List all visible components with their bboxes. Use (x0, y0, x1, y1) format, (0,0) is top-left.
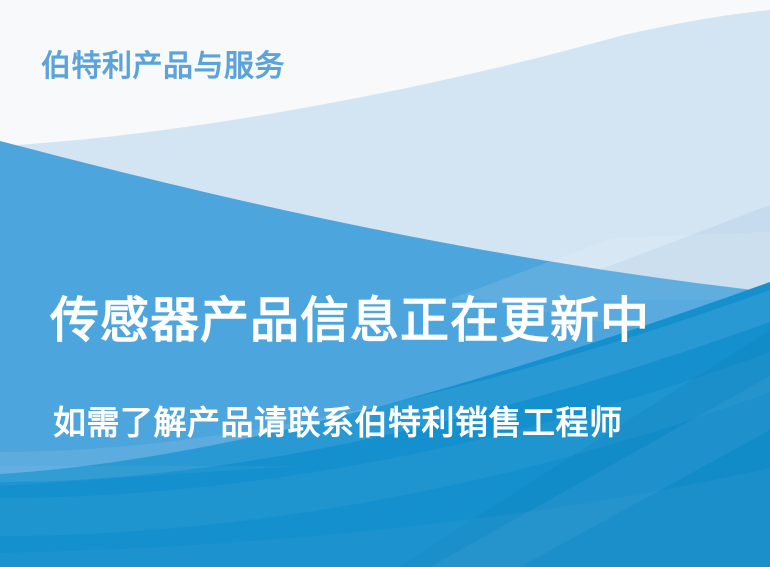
headline: 传感器产品信息正在更新中 (50, 296, 650, 347)
brand-title: 伯特利产品与服务 (41, 50, 285, 83)
subheadline: 如需了解产品请联系伯特利销售工程师 (53, 406, 623, 441)
banner-text-layer: 伯特利产品与服务 传感器产品信息正在更新中 如需了解产品请联系伯特利销售工程师 (0, 0, 770, 567)
product-service-banner: 伯特利产品与服务 传感器产品信息正在更新中 如需了解产品请联系伯特利销售工程师 (0, 0, 770, 567)
